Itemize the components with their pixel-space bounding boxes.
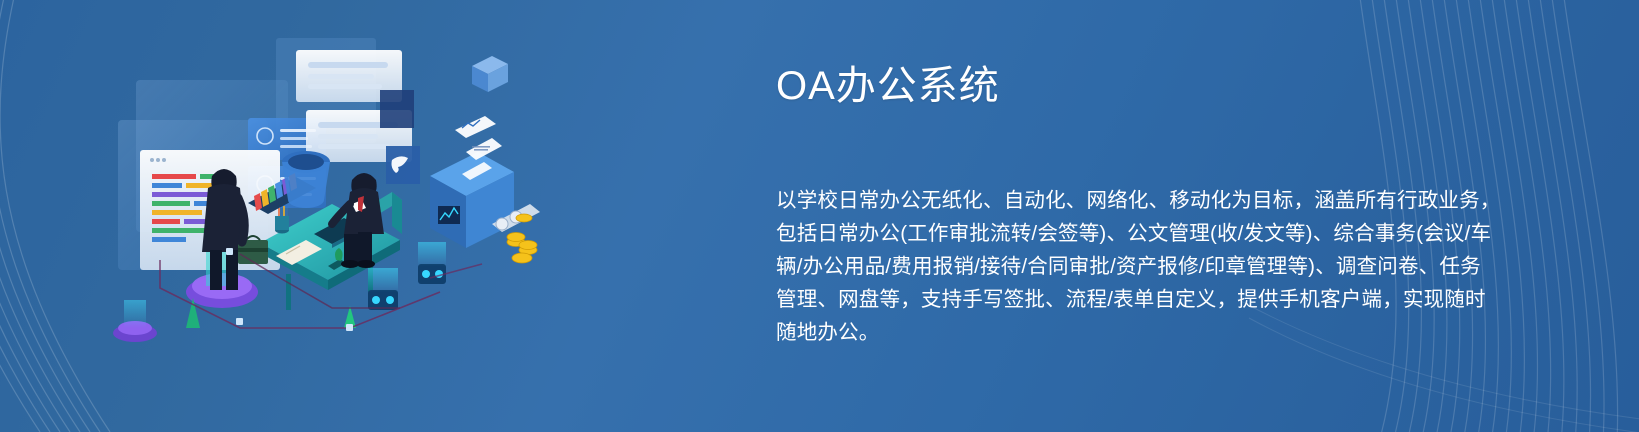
description-line: 管理、网盘等，支持手写签批、流程/表单自定义，提供手机客户端，实现随时 bbox=[776, 283, 1466, 316]
oa-banner: OA办公系统 以学校日常办公无纸化、自动化、网络化、移动化为目标，涵盖所有行政业… bbox=[0, 0, 1639, 432]
banner-copy: OA办公系统 以学校日常办公无纸化、自动化、网络化、移动化为目标，涵盖所有行政业… bbox=[776, 62, 1476, 349]
description-line: 辆/办公用品/费用报销/接待/合同审批/资产报修/印章管理等)、调查问卷、任务 bbox=[776, 250, 1466, 283]
description-text: 以学校日常办公无纸化、自动化、网络化、移动化为目标，涵盖所有行政业务， 包括日常… bbox=[776, 184, 1466, 349]
description-line: 以学校日常办公无纸化、自动化、网络化、移动化为目标，涵盖所有行政业务， bbox=[776, 184, 1466, 217]
page-title: OA办公系统 bbox=[776, 62, 1476, 110]
description-line: 包括日常办公(工作审批流转/会签等)、公文管理(收/发文等)、综合事务(会议/车 bbox=[776, 217, 1466, 250]
description-line: 随地办公。 bbox=[776, 316, 1466, 349]
isometric-office-scene bbox=[100, 28, 540, 388]
